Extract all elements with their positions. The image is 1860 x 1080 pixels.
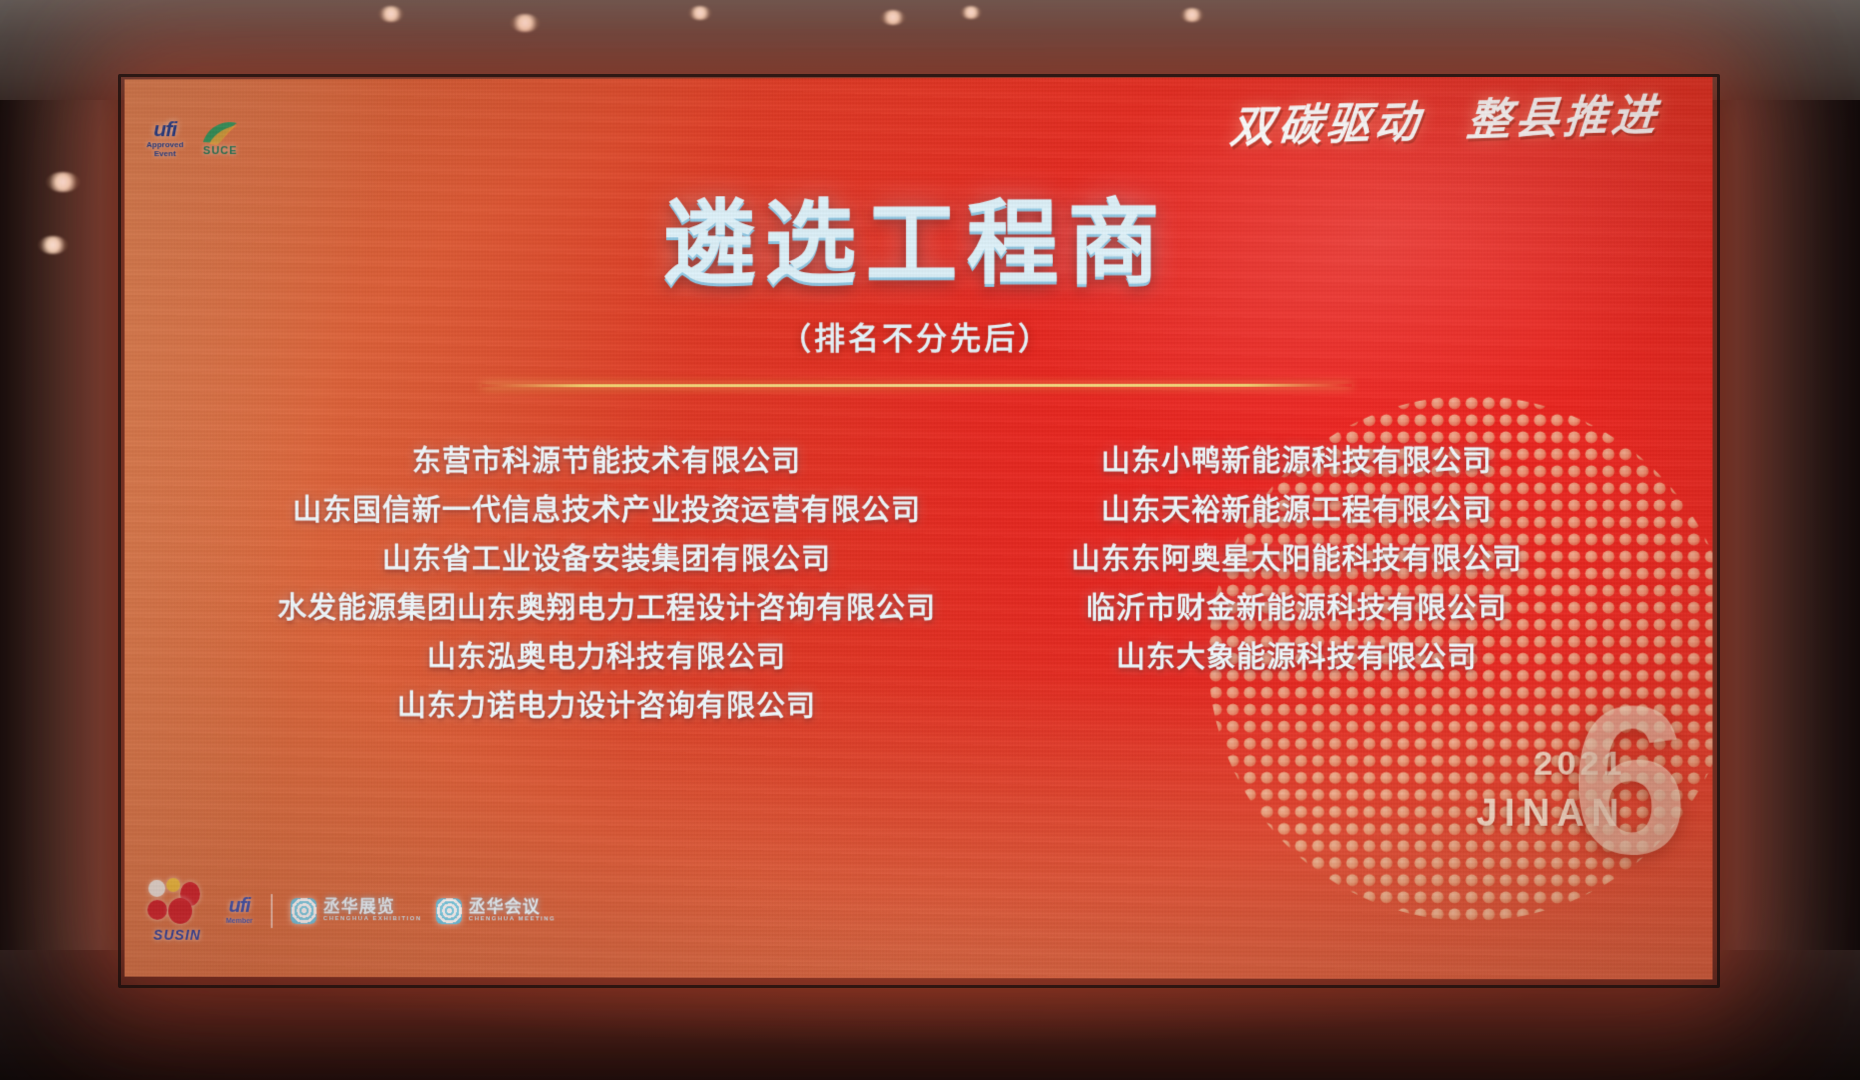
company-name: 山东泓奥电力科技有限公司 [427, 634, 786, 676]
slogan-part-1: 双碳驱动 [1228, 86, 1426, 156]
wall-light-icon [46, 172, 80, 192]
company-name: 山东小鸭新能源科技有限公司 [1101, 438, 1492, 480]
slide-title: 遴选工程商 [125, 195, 1713, 293]
susin-logo: SUSIN [146, 878, 208, 943]
company-name: 山东力诺电力设计咨询有限公司 [397, 683, 816, 725]
slide-heading-block: 遴选工程商 （排名不分先后） [125, 195, 1713, 387]
ceiling-light-icon [688, 6, 712, 20]
logo-divider [271, 894, 273, 928]
ufi-member-logo: ufi Member [226, 896, 253, 925]
spiral-icon [436, 898, 462, 924]
company-name: 山东天裕新能源工程有限公司 [1101, 487, 1492, 529]
photo-scene: ufi Approved Event SUCE 双碳驱动 整县推进 遴选工程商 … [0, 0, 1860, 1080]
company-name: 临沂市财金新能源科技有限公司 [1086, 585, 1507, 627]
susin-dots-icon [146, 878, 208, 924]
suce-logo: SUCE [199, 120, 241, 157]
company-name: 山东省工业设备安装集团有限公司 [382, 536, 831, 578]
chenghua-conference-cn: 丞华会议 [469, 899, 556, 917]
ceiling-light-icon [960, 6, 982, 19]
ufi-wordmark: ufi [154, 119, 177, 140]
ufi-approved-label: Approved [146, 141, 183, 149]
led-screen: ufi Approved Event SUCE 双碳驱动 整县推进 遴选工程商 … [125, 77, 1713, 980]
ufi-member-label: Member [226, 918, 253, 925]
suce-leaf-icon [199, 120, 241, 146]
ceiling-light-icon [510, 14, 540, 32]
company-name: 东营市科源节能技术有限公司 [412, 438, 801, 480]
slogan-part-2: 整县推进 [1465, 79, 1663, 149]
event-edition-number: 6 [1571, 699, 1688, 863]
company-name: 山东东阿奥星太阳能科技有限公司 [1071, 536, 1522, 578]
company-column-right: 山东小鸭新能源科技有限公司 山东天裕新能源工程有限公司 山东东阿奥星太阳能科技有… [1016, 438, 1578, 726]
company-lists: 东营市科源节能技术有限公司 山东国信新一代信息技术产业投资运营有限公司 山东省工… [125, 438, 1713, 726]
right-wall [1710, 100, 1860, 1080]
spiral-icon [290, 898, 316, 924]
chenghua-exhibition-cn: 丞华展览 [323, 899, 422, 917]
top-left-logo-group: ufi Approved Event SUCE [146, 119, 241, 158]
company-name: 山东大象能源科技有限公司 [1116, 634, 1477, 676]
event-slogan: 双碳驱动 整县推进 [1228, 79, 1663, 156]
chenghua-exhibition-logo: 丞华展览 CHENGHUA EXHIBITION [290, 898, 421, 924]
company-name: 山东国信新一代信息技术产业投资运营有限公司 [293, 487, 921, 529]
wall-light-icon [38, 236, 68, 254]
chenghua-conference-en: CHENGHUA MEETING [469, 917, 556, 923]
gold-divider [482, 383, 1352, 387]
bottom-left-logo-group: SUSIN ufi Member 丞华展览 CHENGHUA EXHIBITIO… [146, 878, 555, 943]
ceiling-light-icon [378, 6, 404, 22]
suce-wordmark: SUCE [203, 146, 237, 157]
company-column-left: 东营市科源节能技术有限公司 山东国信新一代信息技术产业投资运营有限公司 山东省工… [258, 438, 956, 725]
chenghua-exhibition-en: CHENGHUA EXHIBITION [323, 916, 422, 922]
ceiling-light-icon [1180, 8, 1204, 22]
slide-subtitle: （排名不分先后） [125, 312, 1713, 358]
chenghua-conference-logo: 丞华会议 CHENGHUA MEETING [436, 898, 556, 924]
ufi-wordmark: ufi [229, 896, 250, 916]
ufi-approved-event-logo: ufi Approved Event [146, 119, 183, 158]
company-name: 水发能源集团山东奥翔电力工程设计咨询有限公司 [278, 585, 936, 627]
susin-wordmark: SUSIN [153, 927, 201, 943]
ufi-event-label: Event [154, 150, 176, 158]
ceiling-light-icon [880, 10, 906, 25]
